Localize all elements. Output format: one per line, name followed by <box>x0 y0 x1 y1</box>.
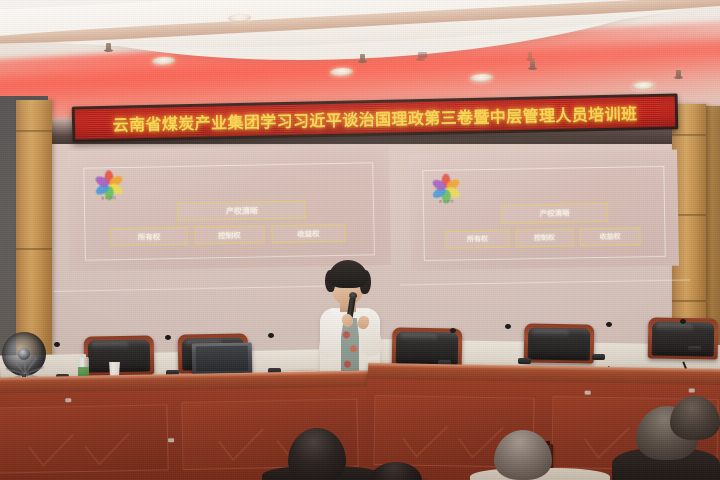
slide-box-ownership: 所有权 <box>445 229 510 249</box>
sprinkler-head-icon <box>106 43 111 52</box>
sprinkler-conduit-icon <box>418 52 427 58</box>
slide-title-box: 产权清晰 <box>177 201 306 221</box>
conference-chair <box>528 327 591 360</box>
conference-hall-photo: 云南省煤炭产业集团学习习近平谈治国理政第三卷暨中层管理人员培训班 清水学院 产权… <box>0 0 720 480</box>
pinwheel-flower-logo-icon: 清水学院 <box>431 172 462 203</box>
gooseneck-microphone <box>490 322 504 364</box>
banner-text: 云南省煤炭产业集团学习习近平谈治国理政第三卷暨中层管理人员培训班 <box>112 100 637 135</box>
left-projection-screen: 清水学院 产权清晰 所有权 控制权 收益权 <box>67 145 391 271</box>
sprinkler-head-icon <box>676 70 681 79</box>
sprinkler-conduit-icon <box>528 52 532 61</box>
slide-box-control: 控制权 <box>194 225 265 244</box>
gooseneck-microphone <box>166 334 180 376</box>
panel-screw-icon <box>65 398 71 402</box>
logo-caption: 清水学院 <box>94 196 124 202</box>
gooseneck-microphone <box>56 340 70 380</box>
dais-panel-inlay <box>0 404 169 473</box>
panel-screw-icon <box>689 388 695 392</box>
slide-box-ownership: 所有权 <box>110 227 188 246</box>
gooseneck-microphone <box>666 316 680 352</box>
panel-screw-icon <box>585 391 591 395</box>
slide-box-income: 收益权 <box>579 227 641 247</box>
sprinkler-head-icon <box>530 61 535 70</box>
right-projection-screen: 清水学院 产权清晰 所有权 控制权 收益权 <box>409 150 679 271</box>
slide-title-box: 产权清晰 <box>501 203 608 223</box>
sprinkler-head-icon <box>360 54 365 63</box>
conference-chair <box>652 321 715 356</box>
gooseneck-microphone <box>268 332 282 374</box>
logo-caption: 清水学院 <box>431 199 461 205</box>
slide-box-income: 收益权 <box>271 224 345 243</box>
gooseneck-microphone <box>566 320 580 360</box>
pinwheel-flower-logo-icon: 清水学院 <box>93 169 124 200</box>
gooseneck-microphone <box>438 326 452 366</box>
slide-box-control: 控制权 <box>515 228 574 248</box>
panel-screw-icon <box>168 438 174 442</box>
presenter-hair <box>328 260 368 288</box>
